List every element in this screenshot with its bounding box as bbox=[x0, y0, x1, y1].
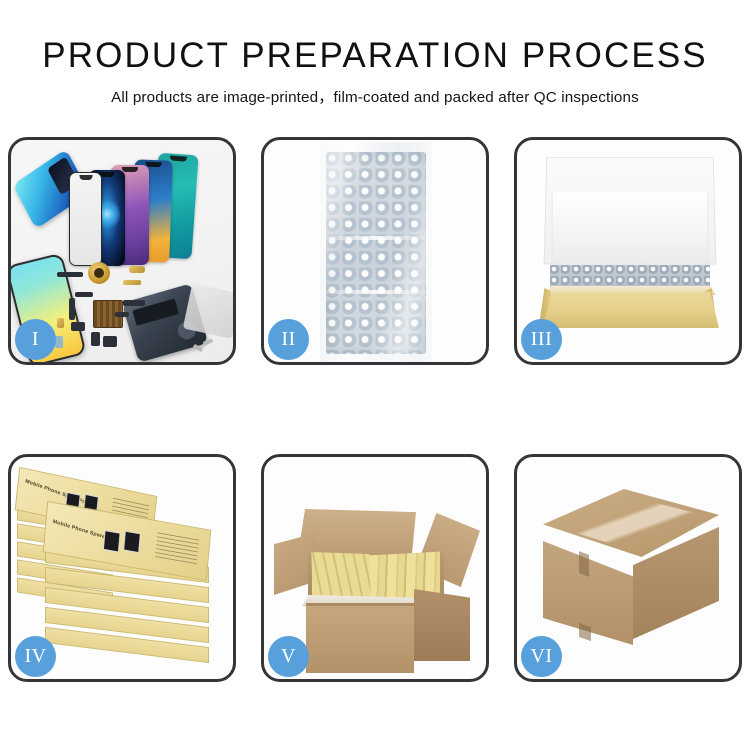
step-panel-4: Mobile Phone Spare Parts Mobile Phone Sp… bbox=[8, 454, 236, 682]
part-gold-flex-b bbox=[123, 280, 141, 285]
header: PRODUCT PREPARATION PROCESS All products… bbox=[0, 0, 750, 107]
step-badge-1: I bbox=[15, 319, 56, 360]
box-art-screen-b1 bbox=[103, 530, 121, 553]
part-bracket-left bbox=[69, 298, 75, 320]
part-gold-screw-plate bbox=[57, 318, 64, 328]
step-panel-6: VI bbox=[514, 454, 742, 682]
part-camera-module bbox=[71, 322, 85, 331]
steps-grid: I II III bbox=[8, 137, 742, 682]
part-flex-cable-short bbox=[115, 312, 129, 317]
step-1-illustration: I bbox=[11, 140, 233, 362]
step-panel-1: I bbox=[8, 137, 236, 365]
retail-boxes-inside-carton-row2 bbox=[311, 552, 371, 598]
step-badge-5: V bbox=[268, 636, 309, 677]
part-gold-flex-a bbox=[129, 266, 145, 273]
plastic-sheen bbox=[320, 142, 432, 362]
box-spec-lines-front bbox=[155, 531, 199, 564]
speaker-component bbox=[88, 262, 110, 284]
step-panel-5: V bbox=[261, 454, 489, 682]
box-front-panel bbox=[543, 292, 719, 328]
step-3-illustration: III bbox=[517, 140, 739, 362]
carton-tape-tab-lower bbox=[579, 623, 591, 641]
carton-front-edge bbox=[306, 603, 414, 606]
step-5-illustration: V bbox=[264, 457, 486, 679]
step-6-illustration: VI bbox=[517, 457, 739, 679]
box-art-screen-b2 bbox=[123, 531, 141, 554]
step-badge-4: IV bbox=[15, 636, 56, 677]
part-antenna-strip bbox=[57, 272, 83, 277]
step-badge-6: VI bbox=[521, 636, 562, 677]
carton-tape-tab-upper bbox=[579, 551, 589, 577]
step-panel-3: III bbox=[514, 137, 742, 365]
step-4-illustration: Mobile Phone Spare Parts Mobile Phone Sp… bbox=[11, 457, 233, 679]
white-foam-sheet bbox=[553, 192, 707, 268]
phone-fan-group bbox=[69, 152, 233, 272]
part-vibrator bbox=[91, 332, 100, 346]
part-sensor bbox=[55, 336, 63, 348]
step-badge-2: II bbox=[268, 319, 309, 360]
part-taptic bbox=[103, 336, 117, 347]
screen-protector-glass bbox=[69, 172, 102, 266]
step-panel-2: II bbox=[261, 137, 489, 365]
step-badge-3: III bbox=[521, 319, 562, 360]
step-2-illustration: II bbox=[264, 140, 486, 362]
carton-front-panel bbox=[306, 603, 414, 673]
product-preparation-infographic: PRODUCT PREPARATION PROCESS All products… bbox=[0, 0, 750, 750]
page-subtitle: All products are image-printed，film-coat… bbox=[0, 85, 750, 107]
part-screw-a bbox=[193, 344, 204, 352]
page-title: PRODUCT PREPARATION PROCESS bbox=[0, 36, 750, 76]
part-flex-cable-long bbox=[123, 300, 145, 306]
carton-side-panel bbox=[414, 589, 470, 661]
part-bracket-top bbox=[75, 292, 93, 297]
